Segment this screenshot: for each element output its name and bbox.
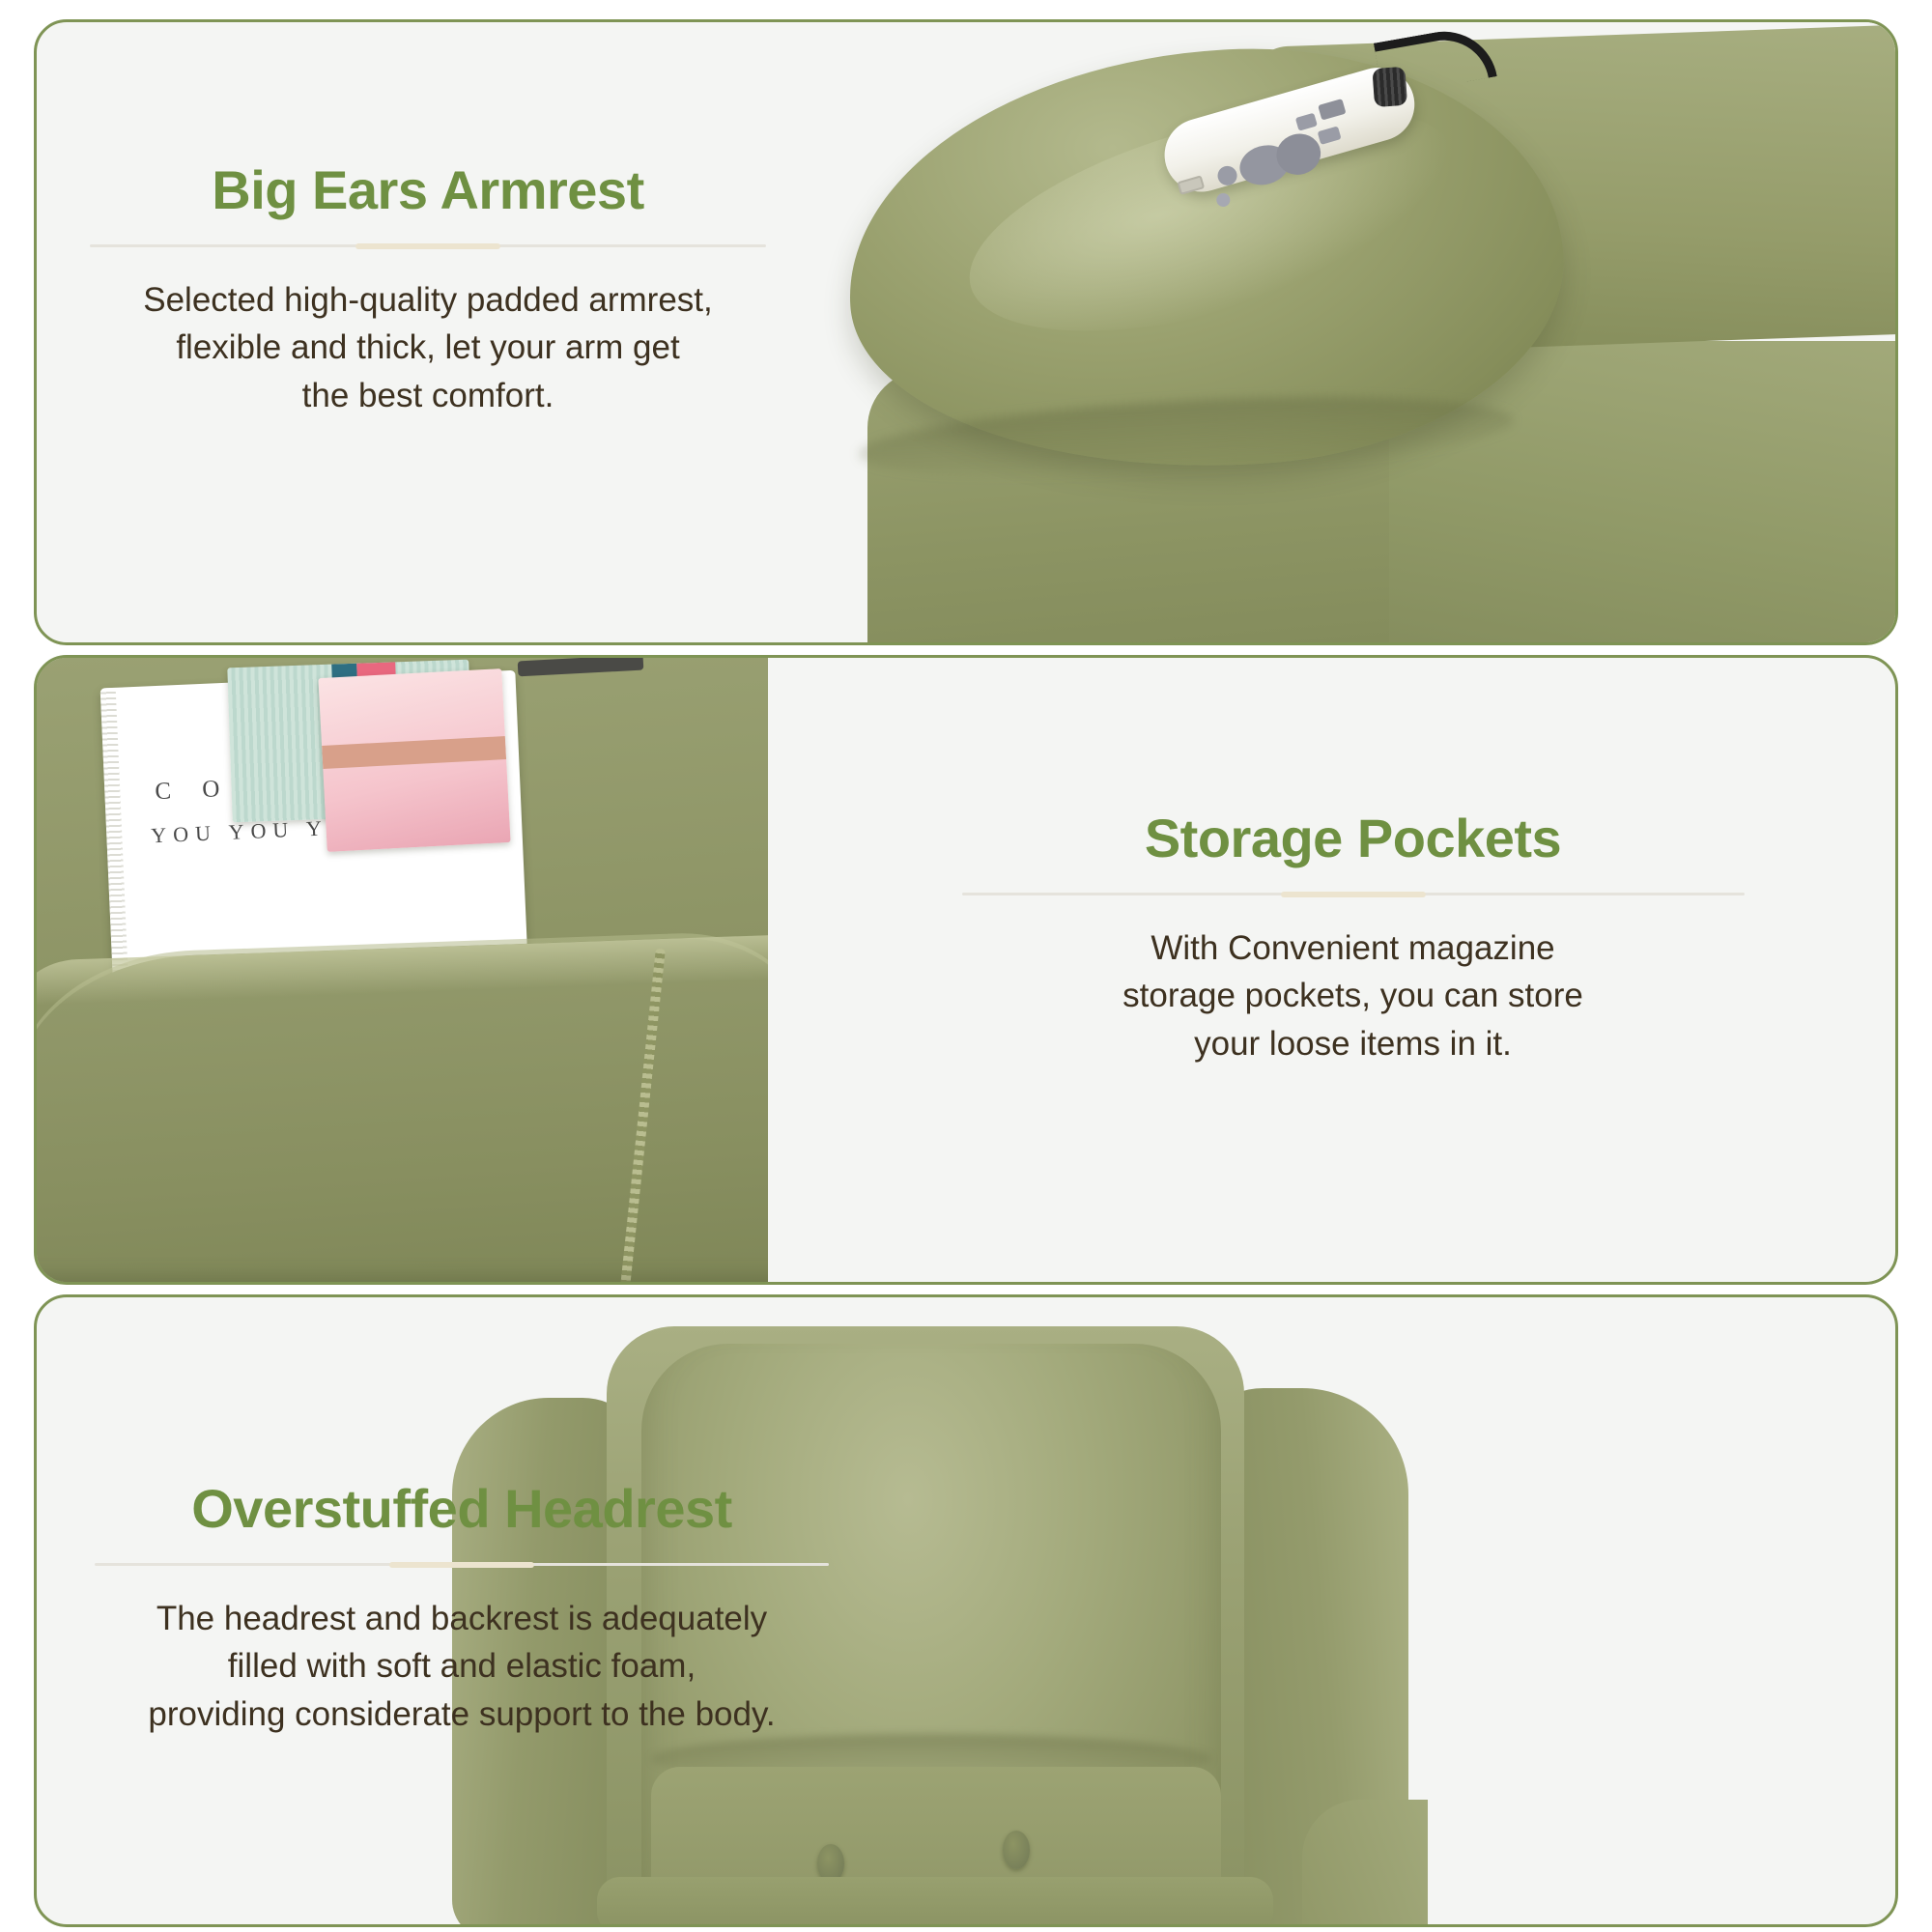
title-divider bbox=[962, 893, 1745, 895]
armrest-photo bbox=[790, 22, 1898, 645]
storage-pockets-text-block: Storage Pockets With Convenient magazine… bbox=[810, 810, 1896, 1068]
magazine-pink bbox=[318, 668, 510, 852]
remote-chevron-up-icon bbox=[1295, 113, 1318, 131]
recliner-seat-edge bbox=[597, 1877, 1273, 1927]
body-line: flexible and thick, let your arm get bbox=[71, 324, 785, 372]
armrest-text-block: Big Ears Armrest Selected high-quality p… bbox=[71, 162, 785, 420]
title-divider bbox=[95, 1563, 829, 1566]
storage-pocket-photo: C O S M O YOU YOU YOU bbox=[37, 658, 768, 1282]
magazine-band bbox=[322, 736, 506, 769]
body-line: the best comfort. bbox=[71, 372, 785, 420]
recliner-tufted-button bbox=[1003, 1831, 1030, 1869]
remote-mode-icon bbox=[1215, 164, 1239, 188]
body-line: filled with soft and elastic foam, bbox=[61, 1642, 863, 1690]
body-line: your loose items in it. bbox=[810, 1020, 1896, 1068]
remote-chevron-wide-icon bbox=[1318, 99, 1346, 121]
remote-cord-collar bbox=[1372, 67, 1407, 107]
remote-power-icon bbox=[1215, 191, 1232, 208]
body-line: With Convenient magazine bbox=[810, 924, 1896, 973]
card-title-overstuffed-headrest: Overstuffed Headrest bbox=[61, 1481, 863, 1538]
feature-card-big-ears-armrest: Big Ears Armrest Selected high-quality p… bbox=[34, 19, 1898, 645]
body-line: providing considerate support to the bod… bbox=[61, 1690, 863, 1739]
feature-card-storage-pockets: C O S M O YOU YOU YOU Storage Pockets Wi… bbox=[34, 655, 1898, 1285]
card-title-storage-pockets: Storage Pockets bbox=[810, 810, 1896, 867]
body-line: Selected high-quality padded armrest, bbox=[71, 276, 785, 325]
title-divider bbox=[90, 244, 766, 247]
recliner-right-armrest bbox=[1302, 1800, 1428, 1927]
remote-chevron-down-icon bbox=[1318, 126, 1342, 145]
headrest-text-block: Overstuffed Headrest The headrest and ba… bbox=[61, 1481, 863, 1739]
infographic-page: Big Ears Armrest Selected high-quality p… bbox=[0, 0, 1932, 1932]
card-title-big-ears-armrest: Big Ears Armrest bbox=[71, 162, 785, 219]
pocket-bottom-shadow bbox=[37, 1276, 768, 1282]
body-line: storage pockets, you can store bbox=[810, 972, 1896, 1020]
card-body-big-ears-armrest: Selected high-quality padded armrest, fl… bbox=[71, 276, 785, 420]
feature-card-overstuffed-headrest: Overstuffed Headrest The headrest and ba… bbox=[34, 1294, 1898, 1927]
body-line: The headrest and backrest is adequately bbox=[61, 1595, 863, 1643]
card-body-storage-pockets: With Convenient magazine storage pockets… bbox=[810, 924, 1896, 1068]
remote-usb-port-icon bbox=[1177, 175, 1205, 195]
card-body-overstuffed-headrest: The headrest and backrest is adequately … bbox=[61, 1595, 863, 1739]
